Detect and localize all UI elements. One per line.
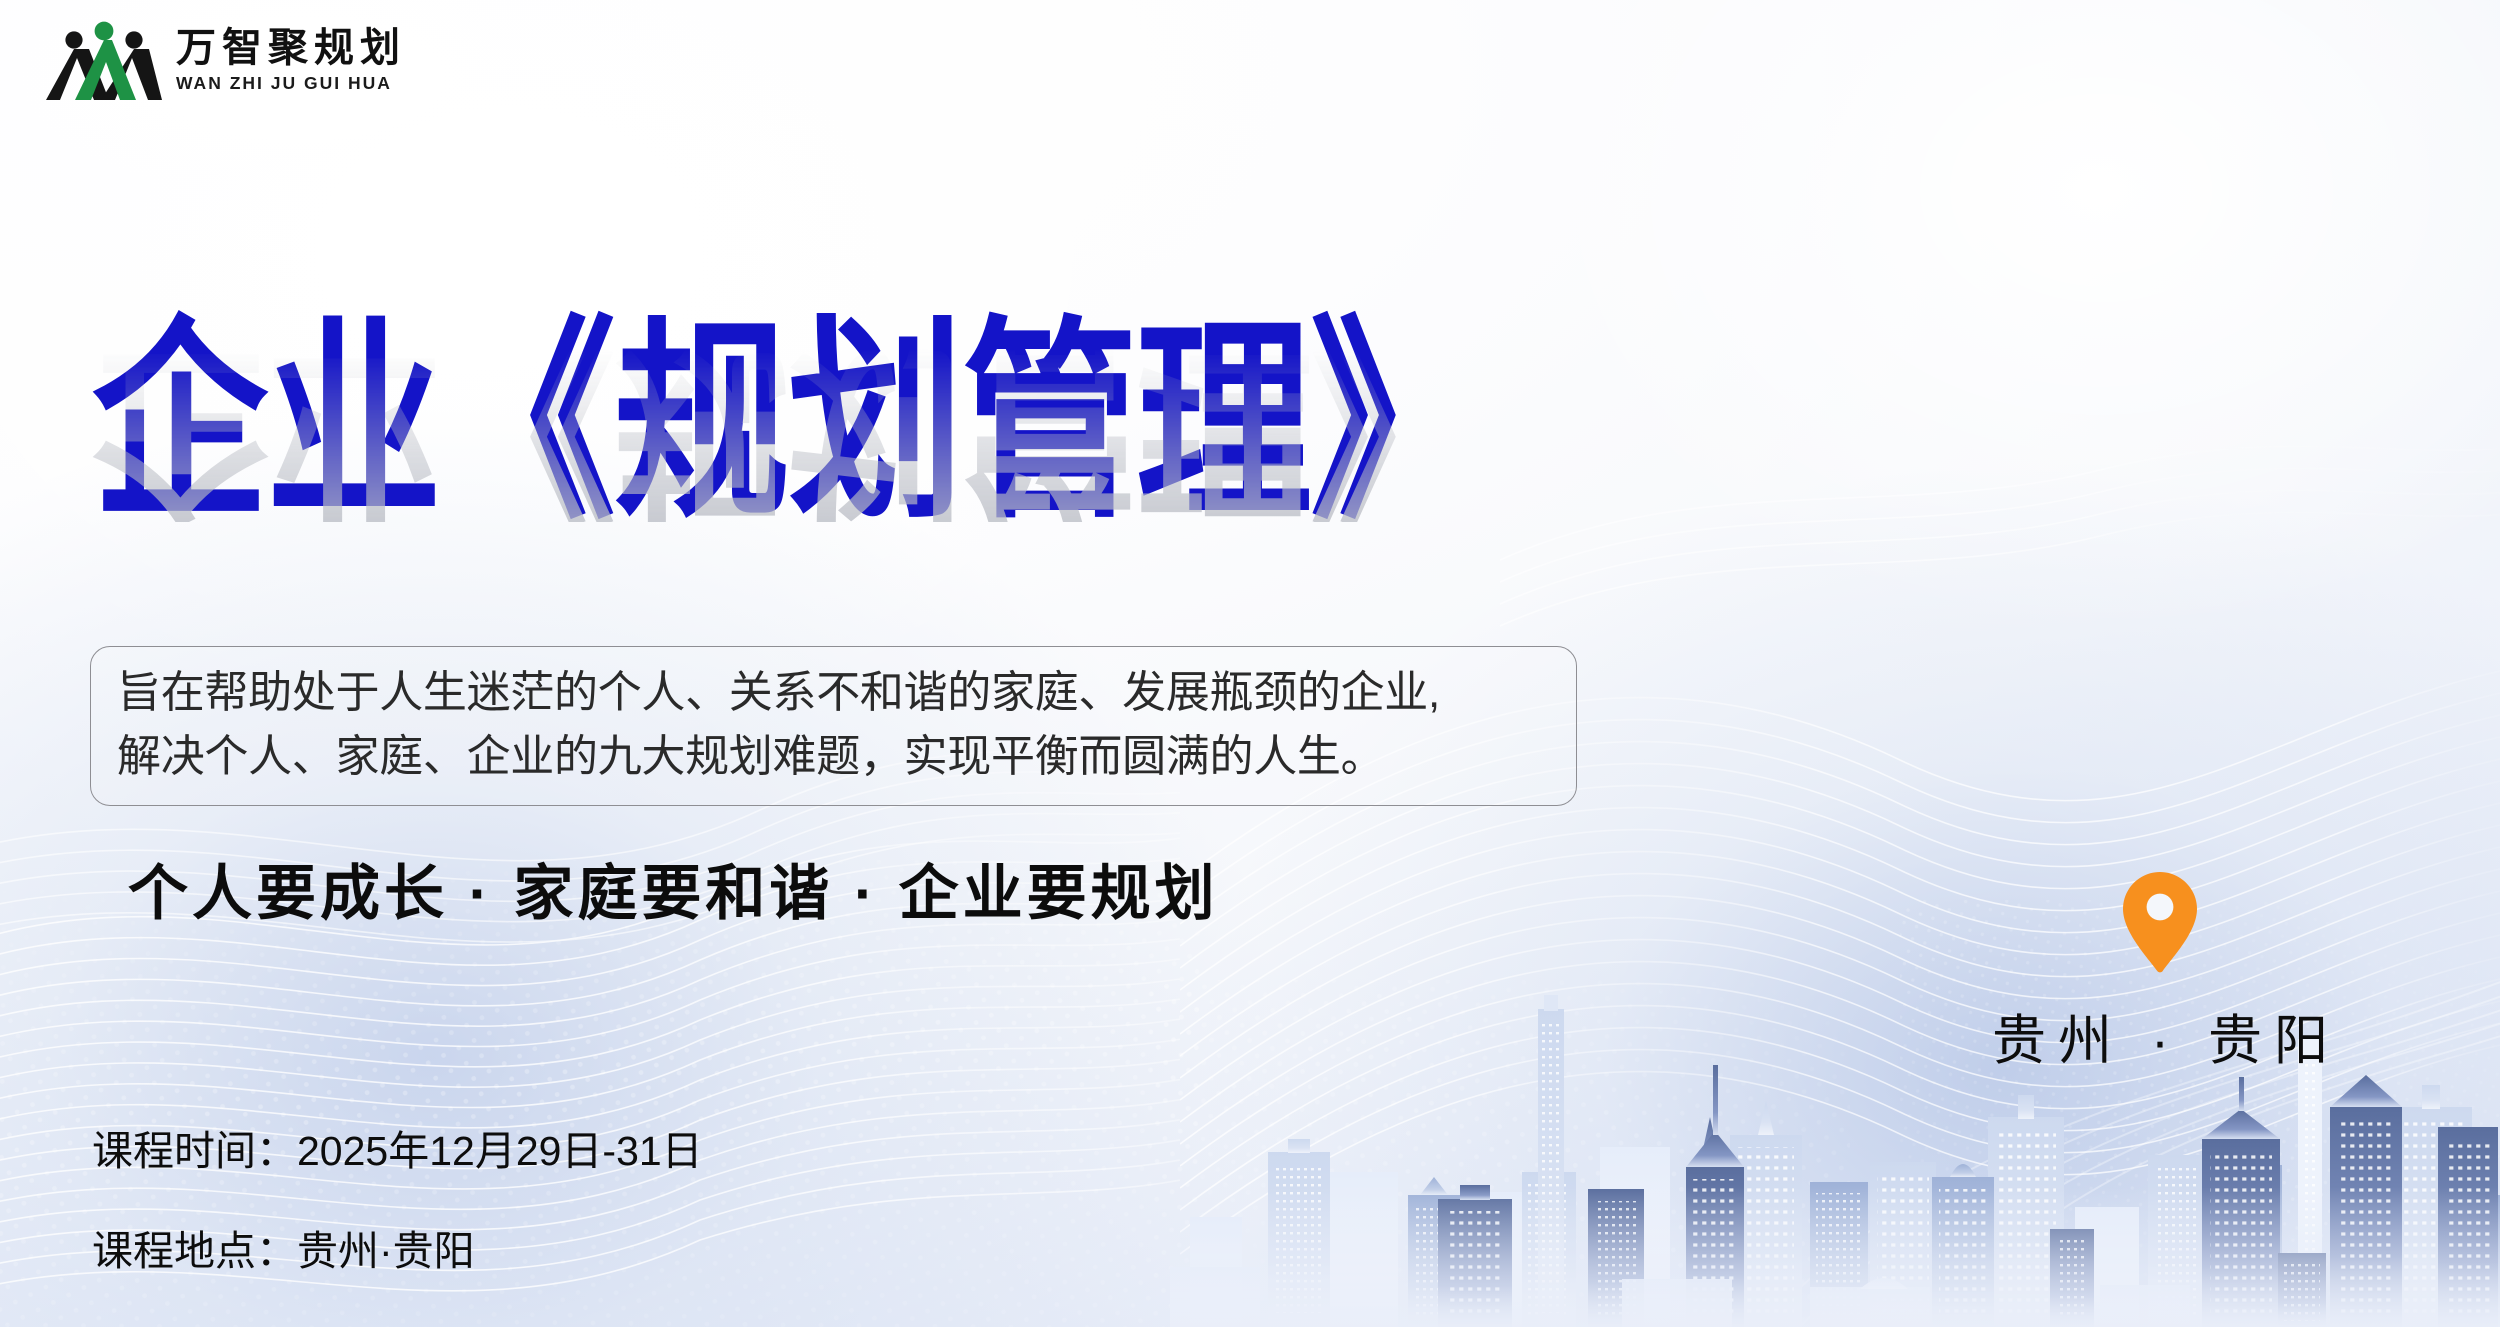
location-block: 贵州 · 贵阳	[1960, 870, 2360, 1075]
description-box: 旨在帮助处于人生迷茫的个人、关系不和谐的家庭、发展瓶颈的企业, 解决个人、家庭、…	[90, 646, 1577, 806]
course-info: 课程时间：2025年12月29日-31日 课程地点：贵州·贵阳	[92, 1117, 703, 1277]
page-title-reflection: 企业《规划管理》	[92, 337, 1484, 522]
description-line-2: 解决个人、家庭、企业的九大规划难题，实现平衡而圆满的人生。	[117, 725, 1552, 789]
course-time: 课程时间：2025年12月29日-31日	[92, 1117, 703, 1177]
slogan-text: 个人要成长 · 家庭要和谐 · 企业要规划	[128, 845, 1219, 932]
skyline-bottom-fade	[1170, 1187, 2500, 1327]
hero-title-block: 企业《规划管理》 企业《规划管理》	[92, 316, 1652, 626]
description-line-1: 旨在帮助处于人生迷茫的个人、关系不和谐的家庭、发展瓶颈的企业,	[117, 661, 1552, 725]
brand-name-cn: 万智聚规划	[176, 28, 406, 68]
course-place: 课程地点：贵州·贵阳	[92, 1217, 703, 1277]
brand-logo[interactable]: 万智聚规划 WAN ZHI JU GUI HUA	[46, 18, 406, 102]
three-people-mountain-logo-icon	[46, 18, 162, 102]
location-label: 贵州 · 贵阳	[1960, 996, 2360, 1075]
brand-name-pinyin: WAN ZHI JU GUI HUA	[176, 75, 406, 93]
brand-wordmark: 万智聚规划 WAN ZHI JU GUI HUA	[176, 28, 406, 93]
map-pin-icon	[2120, 870, 2200, 974]
poster-canvas: 万智聚规划 WAN ZHI JU GUI HUA 企业《规划管理》 企业《规划管…	[0, 0, 2500, 1327]
